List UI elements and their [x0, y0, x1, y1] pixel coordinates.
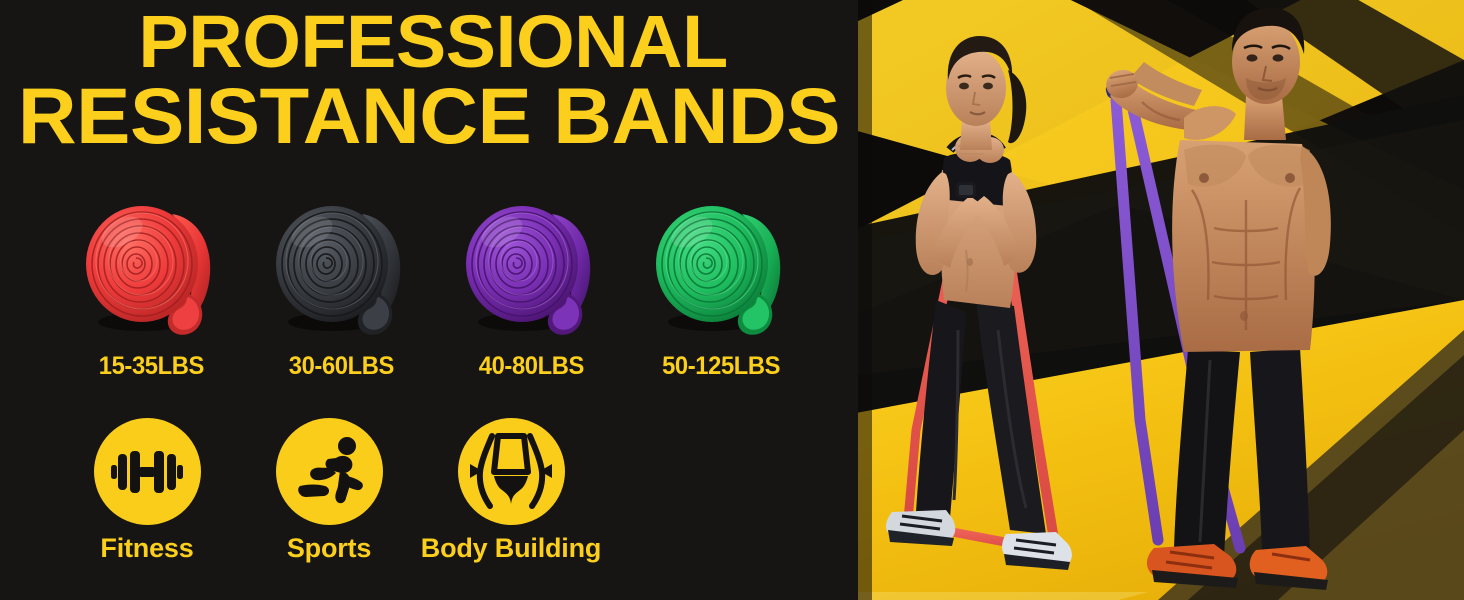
running-person-icon	[292, 436, 366, 508]
feature-sports[interactable]: Sports	[238, 418, 420, 578]
photo-scene	[858, 0, 1464, 600]
band-variant-black[interactable]: 30-60LBS	[246, 196, 436, 386]
band-weight-label: 40-80LBS	[478, 352, 583, 381]
band-variants-list: 15-35LBS	[56, 196, 816, 386]
feature-circle-sports	[276, 418, 383, 525]
band-weight-label: 50-125LBS	[662, 352, 780, 381]
coiled-resistance-band-green-icon	[646, 196, 796, 348]
headline-line-1: PROFESSIONAL	[0, 8, 867, 77]
info-panel: PROFESSIONAL RESISTANCE BANDS	[0, 0, 858, 600]
band-weight-label: 15-35LBS	[98, 352, 203, 381]
feature-circle-body-building	[458, 418, 565, 525]
coiled-resistance-band-black-icon	[266, 196, 416, 348]
page-title: PROFESSIONAL RESISTANCE BANDS	[0, 8, 858, 152]
feature-label: Fitness	[100, 533, 193, 564]
feature-label: Body Building	[421, 533, 601, 564]
lifestyle-photo	[858, 0, 1464, 600]
feature-fitness[interactable]: Fitness	[56, 418, 238, 578]
coiled-resistance-band-red-icon	[76, 196, 226, 348]
product-banner: PROFESSIONAL RESISTANCE BANDS	[0, 0, 1464, 600]
headline-line-2: RESISTANCE BANDS	[0, 79, 871, 152]
band-variant-red[interactable]: 15-35LBS	[56, 196, 246, 386]
body-shaping-icon	[468, 432, 554, 512]
feature-circle-fitness	[94, 418, 201, 525]
band-variant-green[interactable]: 50-125LBS	[626, 196, 816, 386]
feature-body-building[interactable]: Body Building	[420, 418, 602, 578]
feature-label: Sports	[287, 533, 371, 564]
dumbbell-icon	[109, 443, 185, 501]
feature-list: Fitness Sports	[56, 418, 676, 578]
band-weight-label: 30-60LBS	[288, 352, 393, 381]
coiled-resistance-band-purple-icon	[456, 196, 606, 348]
band-variant-purple[interactable]: 40-80LBS	[436, 196, 626, 386]
